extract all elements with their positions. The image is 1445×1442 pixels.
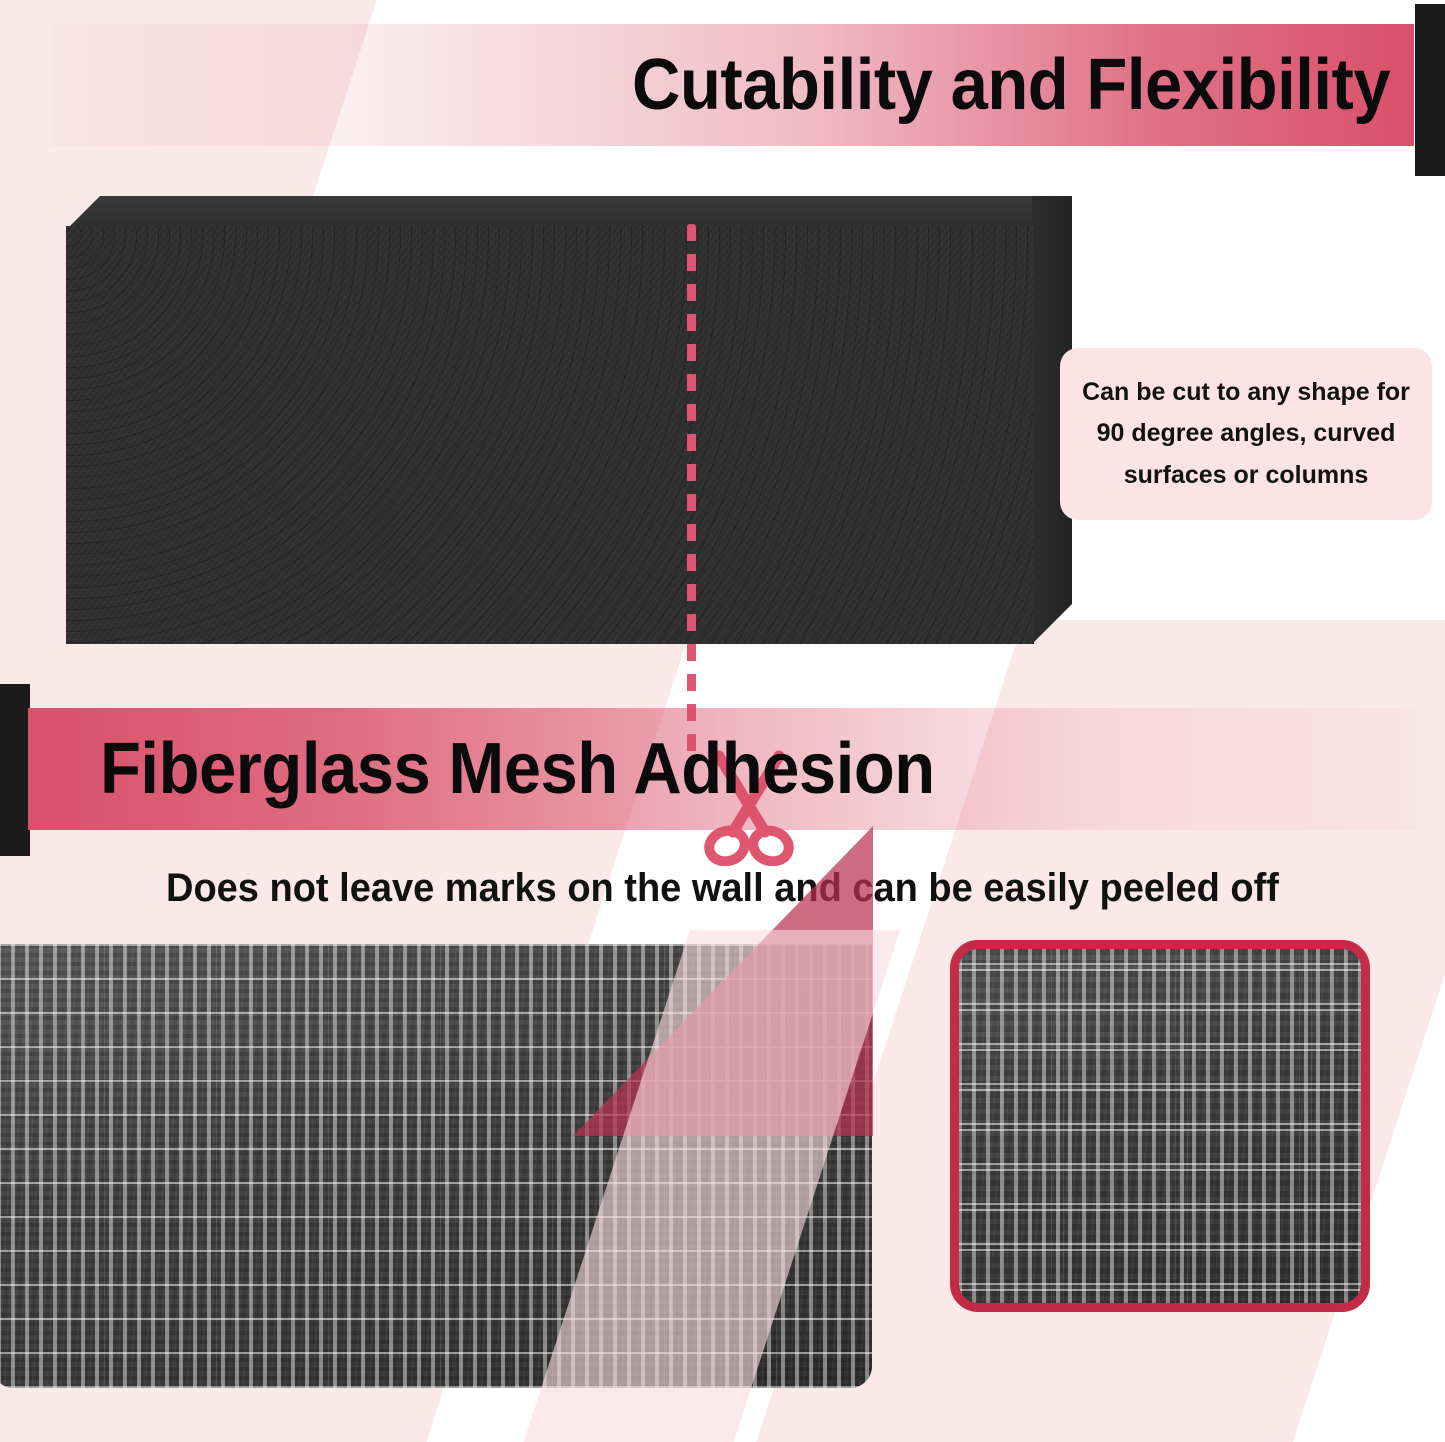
foam-panel-image	[66, 196, 1072, 644]
heading-banner-cutability: Cutability and Flexibility	[52, 24, 1414, 146]
decorative-black-block-left	[0, 684, 30, 856]
mesh-photo-inset	[950, 940, 1370, 1312]
infographic-page: Cutability and Flexibility Can be cut to…	[0, 0, 1445, 1442]
mesh-photo-main	[0, 944, 872, 1388]
decorative-black-block-top-right	[1415, 4, 1445, 176]
dashed-cut-line-icon	[687, 224, 696, 754]
mesh-texture-inset	[950, 940, 1370, 1312]
subtitle-adhesion: Does not leave marks on the wall and can…	[36, 866, 1409, 911]
foam-panel-front-face	[66, 226, 1034, 644]
callout-line-3: surfaces or columns	[1124, 462, 1369, 490]
page-title-cutability: Cutability and Flexibility	[632, 49, 1390, 121]
page-title-adhesion: Fiberglass Mesh Adhesion	[100, 733, 935, 805]
foam-panel-top-edge	[66, 196, 1072, 230]
mesh-texture-main	[0, 944, 872, 1388]
callout-line-1: Can be cut to any shape for	[1082, 379, 1410, 407]
heading-banner-adhesion: Fiberglass Mesh Adhesion	[28, 708, 1416, 830]
callout-cutability: Can be cut to any shape for 90 degree an…	[1060, 348, 1432, 520]
callout-line-2: 90 degree angles, curved	[1097, 420, 1396, 448]
